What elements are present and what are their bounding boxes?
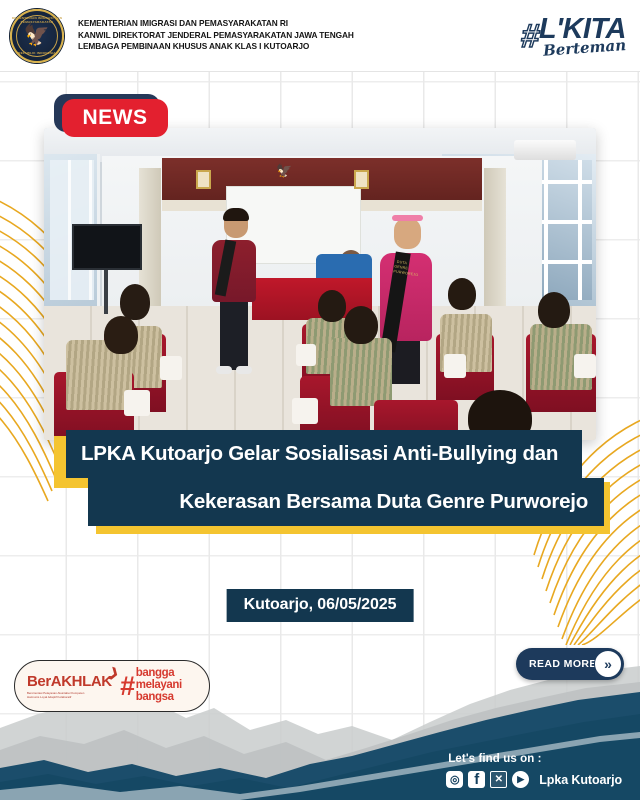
berakhlak-wordmark: BerAKHLAK ❯ [27,673,112,690]
date-location-badge: Kutoarjo, 06/05/2025 [227,589,414,622]
photo-duta-head [394,218,421,249]
header-line-1: KEMENTERIAN IMIGRASI DAN PEMASYARAKATAN … [78,18,521,30]
headline-line-2: Kekerasan Bersama Duta Genre Purworejo [88,478,604,526]
berakhlak-word-text: BerAKHLAK [27,673,112,690]
photo-wall-emblem-icon: 🦅 [276,164,292,179]
find-us-label: Let's find us on : [448,753,622,765]
lkita-wordmark: L'KITA Berteman [539,15,626,56]
double-chevron-right-icon: » [594,650,622,678]
photo-tv-stand [104,270,108,314]
photo-audience-head [448,278,476,310]
photo-audience-head [344,306,378,344]
footer-social-block: Let's find us on : ◎ f ✕ ▶ Lpka Kutoarjo [446,753,622,788]
photo-speaker-shoe-right [236,366,252,374]
photo-chair-bow [296,344,316,366]
bangga-hashtag-icon: # [120,673,132,700]
hashtag-icon: # [519,19,538,52]
garuda-bird-glyph: 🦅 [24,25,50,46]
x-twitter-icon[interactable]: ✕ [490,771,507,788]
photo-portrait-right [354,170,369,189]
berakhlak-logo: BerAKHLAK ❯ Berorientasi Pelayanan Akunt… [14,660,210,712]
page-header: KEMENTERIAN IMIGRASI DAN PEMASYARAKATAN … [0,0,640,72]
instagram-icon[interactable]: ◎ [446,771,463,788]
garuda-emblem-icon: KEMENTERIAN IMIGRASI DAN PEMASYARAKATAN … [10,9,64,63]
headline-line-1: LPKA Kutoarjo Gelar Sosialisasi Anti-Bul… [66,430,582,478]
headline-block: LPKA Kutoarjo Gelar Sosialisasi Anti-Bul… [44,430,604,526]
emblem-bottom-text: REPUBLIK INDONESIA [12,51,62,55]
read-more-label: READ MORE [529,658,597,670]
youtube-icon[interactable]: ▶ [512,771,529,788]
photo-duta-headband [392,215,423,221]
lkita-brand-logo: # L'KITA Berteman [521,15,626,56]
photo-audience-head [104,316,138,354]
berakhlak-tick-icon: ❯ [107,664,121,680]
header-line-2: KANWIL DIREKTORAT JENDERAL PEMASYARAKATA… [78,30,521,42]
read-more-button[interactable]: READ MORE » [516,648,624,680]
photo-audience-shirt [330,338,392,406]
news-badge-label: NEWS [62,99,168,137]
photo-audience-head [538,292,570,328]
photo-portrait-left [196,170,211,189]
photo-audience-head [120,284,150,320]
social-handle-label: Lpka Kutoarjo [539,773,622,787]
photo-tv-screen [72,224,142,270]
photo-speaker-shoe-left [216,366,232,374]
photo-chair-bow [292,398,318,424]
photo-chair-bow [444,354,466,378]
photo-air-conditioner [514,140,576,160]
photo-speaker-legs [220,298,248,370]
berakhlak-tagline-2: Harmonis Loyal Adaptif Kolaboratif [27,695,112,699]
header-institution-titles: KEMENTERIAN IMIGRASI DAN PEMASYARAKATAN … [78,18,521,53]
photo-chair-bow [574,354,596,378]
photo-chair-bow [160,356,182,380]
slogan-line-3: bangsa [136,692,182,704]
berakhlak-tagline: Berorientasi Pelayanan Akuntabel Kompete… [27,691,112,700]
lkita-sub-text: Berteman [538,38,626,59]
photo-chair-bow [124,390,150,416]
header-line-3: LEMBAGA PEMBINAAN KHUSUS ANAK KLAS I KUT… [78,41,521,53]
photo-audience-head [318,290,346,322]
photo-speaker-hair [223,208,249,221]
photo-pillar-right [484,168,506,308]
social-icon-row: ◎ f ✕ ▶ Lpka Kutoarjo [446,771,622,788]
news-photo: 🦅 DUTA GENRE PURWOREJO [44,128,596,440]
bangga-melayani-bangsa-wordmark: bangga melayani bangsa [136,668,182,704]
news-badge: NEWS [54,94,160,132]
berakhlak-left-block: BerAKHLAK ❯ Berorientasi Pelayanan Akunt… [27,673,112,700]
facebook-icon[interactable]: f [468,771,485,788]
